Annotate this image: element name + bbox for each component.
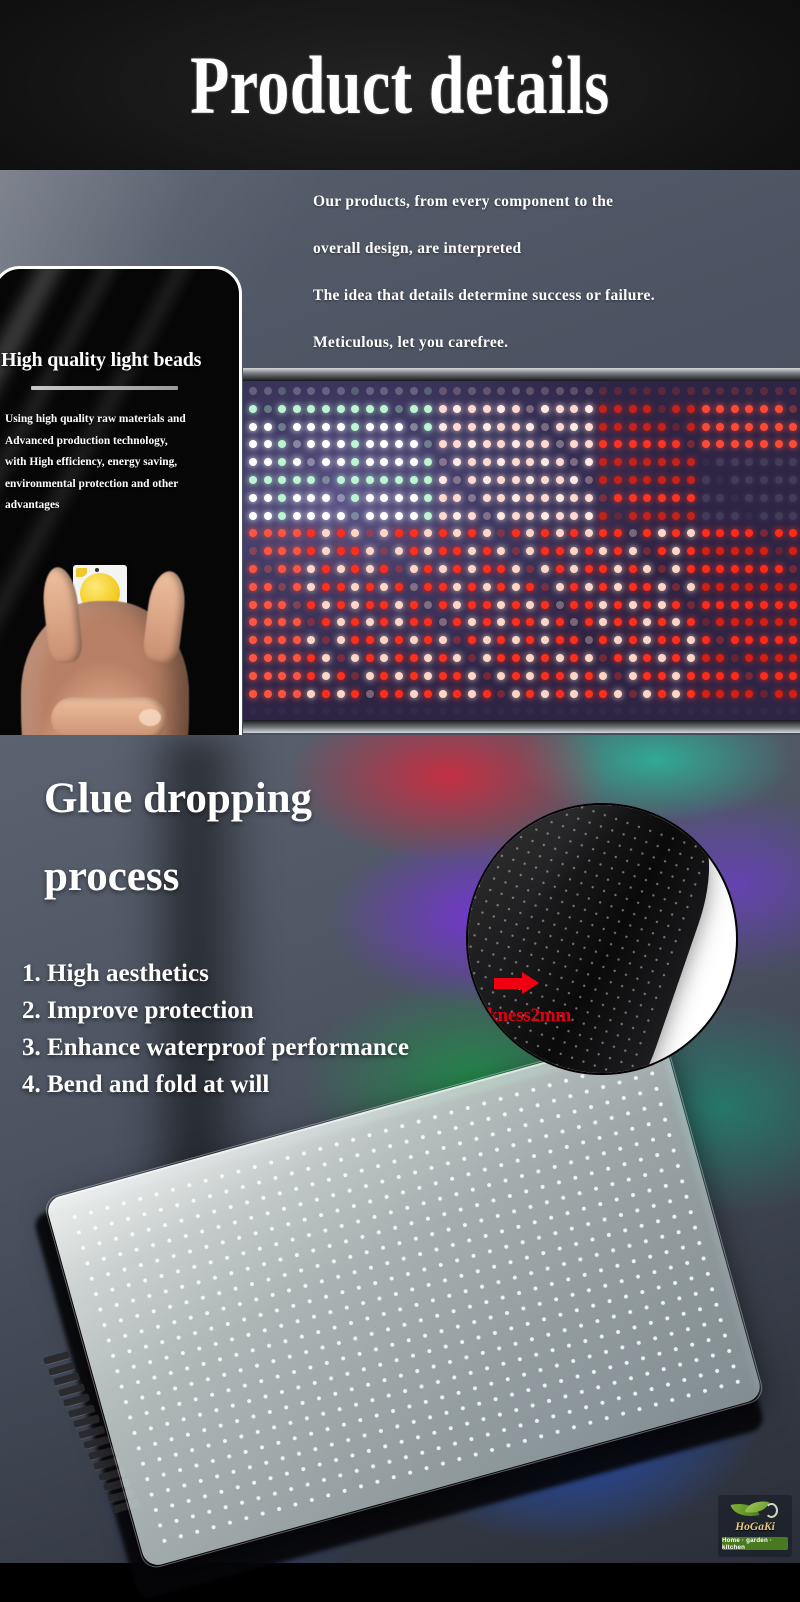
intro-line-2: overall design, are interpreted	[313, 225, 800, 272]
finger-thumb	[142, 569, 189, 665]
list-item: 3. Enhance waterproof performance	[22, 1029, 542, 1066]
feature-card-body: Using high quality raw materials and Adv…	[5, 409, 240, 517]
logo-tagline: Home · garden · kitchen	[722, 1537, 788, 1550]
glue-benefits-list: 1. High aesthetics 2. Improve protection…	[22, 955, 542, 1103]
intro-line-3: The idea that details determine success …	[313, 272, 800, 319]
intro-paragraph: Our products, from every component to th…	[313, 178, 800, 366]
led-screen	[243, 381, 800, 720]
intro-line-1: Our products, from every component to th…	[313, 178, 800, 225]
glue-title-line-2: process	[44, 838, 474, 916]
hand-illustration	[21, 601, 189, 735]
watermark-logo: HoGaKi Home · garden · kitchen	[718, 1495, 792, 1557]
led-strip-closeup	[466, 803, 728, 1075]
panel-outline	[42, 1027, 766, 1571]
thickness-arrow-icon	[494, 972, 544, 994]
led-dot-grid	[243, 381, 800, 720]
panel-frame-bottom	[243, 720, 800, 733]
feature-card-divider	[31, 386, 178, 390]
page-title: Product details	[24, 0, 776, 170]
feature-body-line-4: environmental protection and other	[5, 474, 240, 496]
intro-line-4: Meticulous, let you carefree.	[313, 319, 800, 366]
glue-section-title: Glue dropping process	[44, 760, 474, 916]
thickness-label: Thickness2mm	[466, 1005, 681, 1027]
led-matrix-photo	[243, 368, 800, 733]
panel-frame-top	[243, 368, 800, 381]
glue-title-line-1: Glue dropping	[44, 760, 474, 838]
product-intro-section: Our products, from every component to th…	[0, 170, 800, 735]
list-item: 1. High aesthetics	[22, 955, 542, 992]
feature-body-line-1: Using high quality raw materials and	[5, 409, 240, 431]
feature-card-title: High quality light beads	[1, 349, 242, 372]
list-item: 2. Improve protection	[22, 992, 542, 1029]
strip-gloss	[466, 803, 728, 1075]
feature-body-line-3: with High efficiency, energy saving,	[5, 452, 240, 474]
logo-brand-name: HoGaKi	[718, 1521, 792, 1533]
page-header: Product details	[0, 0, 800, 170]
feature-body-line-5: advantages	[5, 495, 240, 517]
finger-a	[51, 697, 167, 735]
feature-body-line-2: Advanced production technology,	[5, 431, 240, 453]
thickness-closeup-inset: Thickness2mm	[466, 803, 738, 1075]
cob-led-photo	[0, 539, 239, 735]
flexible-panel-photo	[56, 1082, 756, 1552]
hook-icon	[765, 1503, 778, 1518]
feature-card-light-beads: High quality light beads Using high qual…	[0, 266, 242, 735]
